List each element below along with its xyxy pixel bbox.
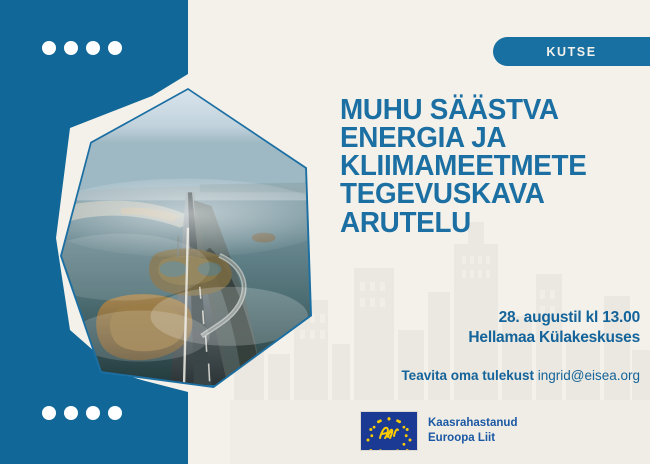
aerial-bridge-photo	[60, 88, 312, 388]
photo-clip	[62, 90, 310, 386]
dot-icon	[64, 41, 78, 55]
invitation-poster: KUTSE MUHU SÄÄSTVA ENERGIA JA KLIIMAMEET…	[0, 0, 650, 464]
title-line-4: TEGEVUSKAVA	[340, 180, 628, 208]
event-details: 28. augustil kl 13.00 Hellamaa Külakesku…	[340, 308, 640, 349]
rsvp-email[interactable]: ingrid@eisea.org	[534, 368, 640, 383]
page-title: MUHU SÄÄSTVA ENERGIA JA KLIIMAMEETMETE T…	[340, 96, 628, 237]
decorative-dots-top	[42, 41, 122, 55]
event-datetime: 28. augustil kl 13.00	[340, 308, 640, 328]
eu-funding-line-2: Euroopa Liit	[428, 431, 517, 446]
eu-flag-icon	[360, 411, 418, 451]
rsvp-line: Teavita oma tulekust ingrid@eisea.org	[340, 368, 640, 383]
dot-icon	[86, 406, 100, 420]
title-line-5: ARUTELU	[340, 209, 628, 237]
decorative-dots-bottom	[42, 406, 122, 420]
dot-icon	[42, 41, 56, 55]
kutse-badge: KUTSE	[493, 37, 650, 66]
dot-icon	[64, 406, 78, 420]
dot-icon	[42, 406, 56, 420]
dot-icon	[108, 406, 122, 420]
title-line-2: ENERGIA JA	[340, 124, 628, 152]
rsvp-label: Teavita oma tulekust	[401, 368, 534, 383]
eu-funding-line-1: Kaasrahastanud	[428, 416, 517, 431]
eu-funding-logo: Kaasrahastanud Euroopa Liit	[360, 411, 517, 451]
event-venue: Hellamaa Külakeskuses	[340, 328, 640, 348]
dot-icon	[86, 41, 100, 55]
kutse-badge-label: KUTSE	[546, 45, 596, 59]
title-line-3: KLIIMAMEETMETE	[340, 152, 628, 180]
eu-funding-text: Kaasrahastanud Euroopa Liit	[428, 416, 517, 446]
dot-icon	[108, 41, 122, 55]
title-line-1: MUHU SÄÄSTVA	[340, 96, 628, 124]
